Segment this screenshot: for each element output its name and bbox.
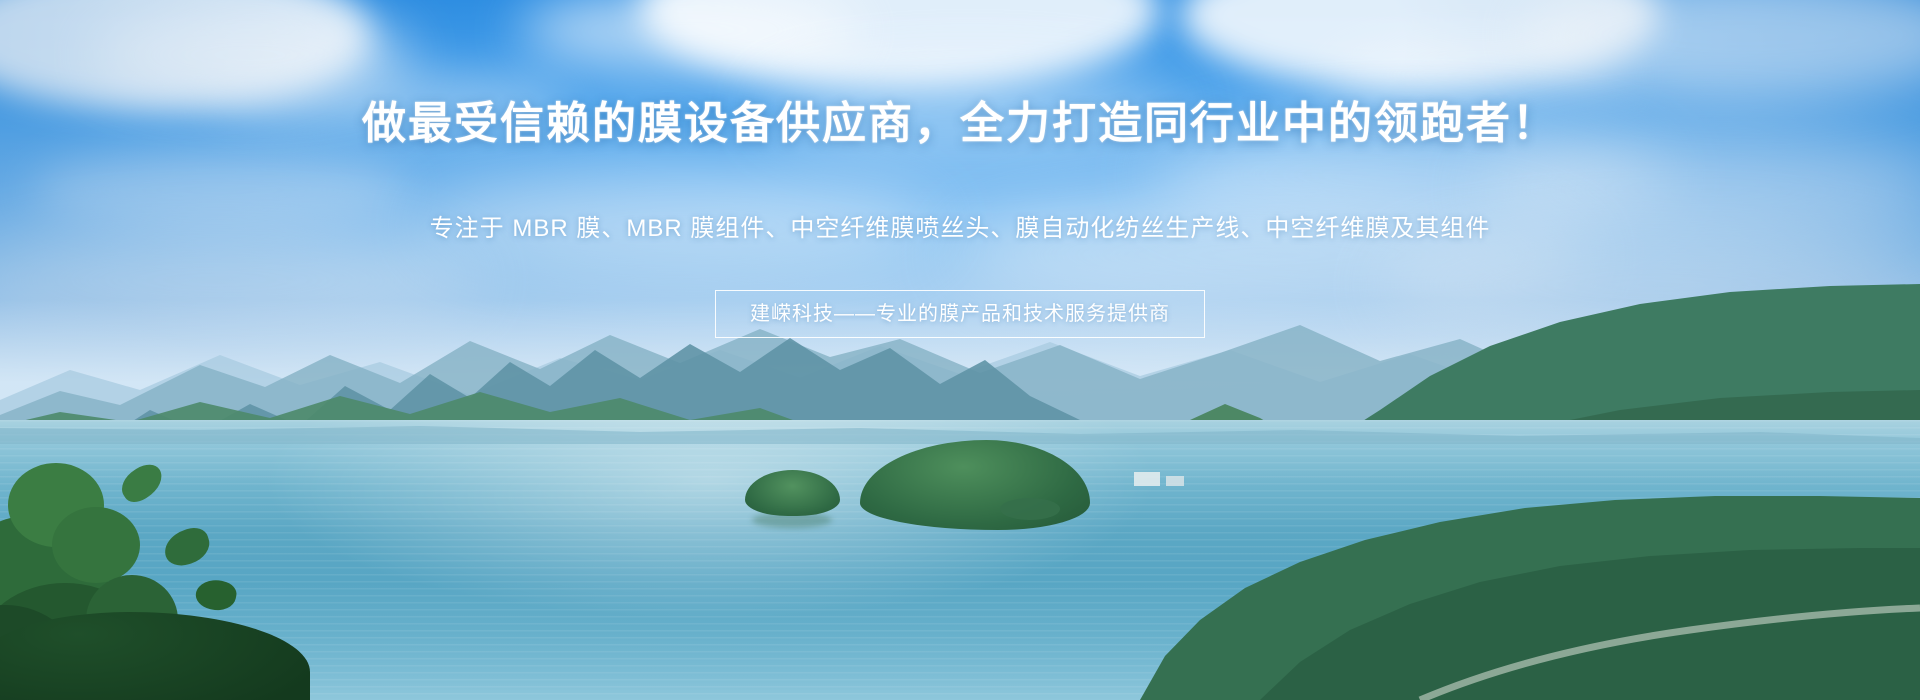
banner-headline: 做最受信赖的膜设备供应商，全力打造同行业中的领跑者！: [0, 97, 1920, 151]
banner-subheadline: 专注于 MBR 膜、MBR 膜组件、中空纤维膜喷丝头、膜自动化纺丝生产线、中空纤…: [0, 213, 1920, 245]
hero-banner: 做最受信赖的膜设备供应商，全力打造同行业中的领跑者！ 专注于 MBR 膜、MBR…: [0, 0, 1920, 700]
banner-tagline-box: 建嵘科技——专业的膜产品和技术服务提供商: [715, 290, 1205, 338]
text-overlay: 做最受信赖的膜设备供应商，全力打造同行业中的领跑者！ 专注于 MBR 膜、MBR…: [0, 0, 1920, 700]
